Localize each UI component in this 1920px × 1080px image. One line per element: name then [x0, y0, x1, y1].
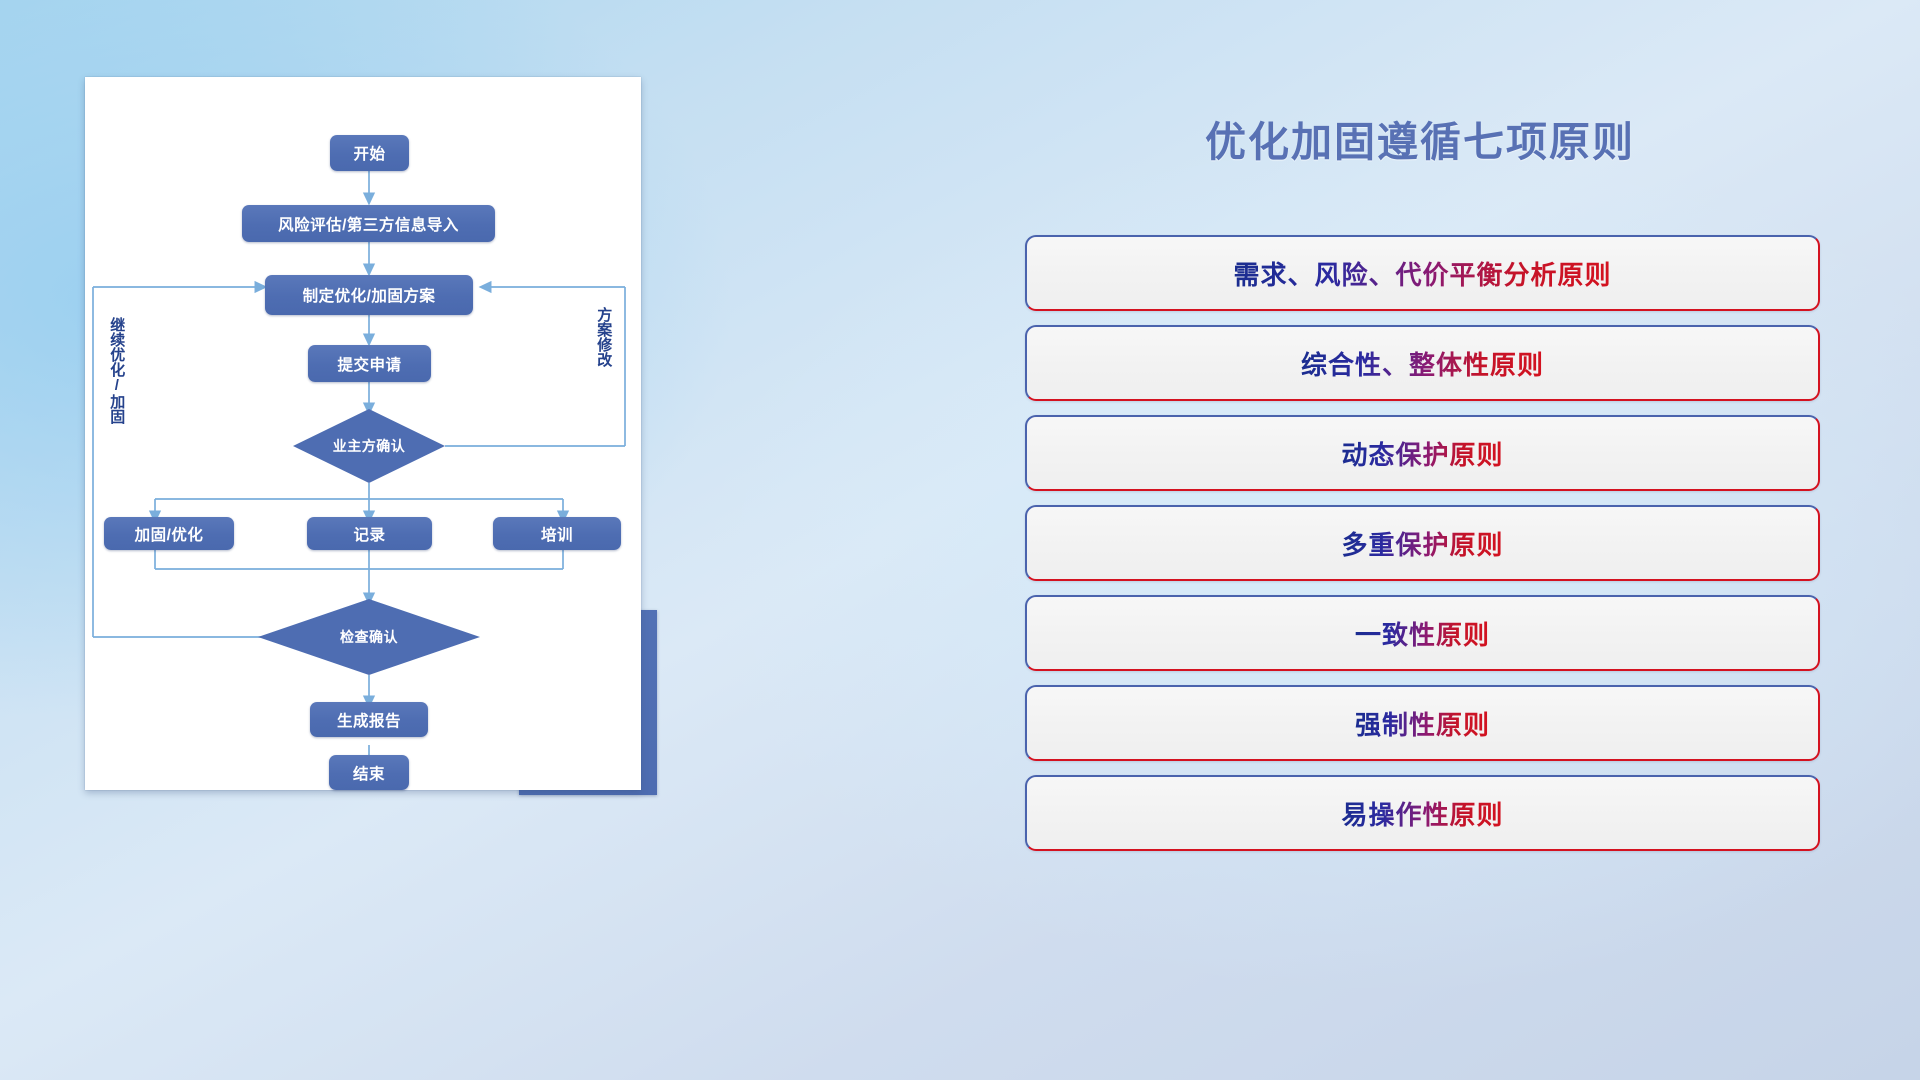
principle-label: 强制性原则 [1355, 705, 1490, 742]
principle-label: 易操作性原则 [1341, 795, 1503, 832]
principle-item[interactable]: 多重保护原则 [1025, 505, 1820, 581]
principle-item[interactable]: 易操作性原则 [1025, 775, 1820, 851]
edge-label-plan-revision: 方案修改 [596, 307, 611, 367]
flowchart-card: 开始 风险评估/第三方信息导入 制定优化/加固方案 提交申请 加固/优化 记录 … [85, 77, 641, 790]
principle-item[interactable]: 动态保护原则 [1025, 415, 1820, 491]
principle-label: 动态保护原则 [1341, 435, 1503, 472]
principle-item[interactable]: 综合性、整体性原则 [1025, 325, 1820, 401]
principle-item[interactable]: 强制性原则 [1025, 685, 1820, 761]
principle-item[interactable]: 一致性原则 [1025, 595, 1820, 671]
page-title: 优化加固遵循七项原则 [1140, 108, 1700, 168]
flowchart-connectors [85, 77, 641, 790]
decision-check-confirm [258, 599, 480, 675]
node-training[interactable]: 培训 [493, 517, 621, 550]
node-start[interactable]: 开始 [330, 135, 409, 171]
slide-canvas: 开始 风险评估/第三方信息导入 制定优化/加固方案 提交申请 加固/优化 记录 … [0, 0, 1920, 1080]
principle-label: 综合性、整体性原则 [1301, 345, 1544, 382]
principle-label: 多重保护原则 [1341, 525, 1503, 562]
principle-label: 一致性原则 [1355, 615, 1490, 652]
node-reinforce-optimize[interactable]: 加固/优化 [104, 517, 234, 550]
principles-list: 需求、风险、代价平衡分析原则 综合性、整体性原则 动态保护原则 多重保护原则 一… [1025, 235, 1820, 851]
decision-owner-confirm [293, 409, 445, 483]
edge-label-continue-optimize: 继续优化/加固 [109, 317, 124, 424]
node-record[interactable]: 记录 [307, 517, 432, 550]
node-end[interactable]: 结束 [329, 755, 409, 790]
node-make-plan[interactable]: 制定优化/加固方案 [265, 275, 473, 315]
principle-label: 需求、风险、代价平衡分析原则 [1233, 255, 1611, 292]
principle-item[interactable]: 需求、风险、代价平衡分析原则 [1025, 235, 1820, 311]
node-submit-application[interactable]: 提交申请 [308, 345, 431, 382]
node-risk-assessment[interactable]: 风险评估/第三方信息导入 [242, 205, 495, 242]
node-generate-report[interactable]: 生成报告 [310, 702, 428, 737]
flowchart: 开始 风险评估/第三方信息导入 制定优化/加固方案 提交申请 加固/优化 记录 … [85, 77, 641, 790]
